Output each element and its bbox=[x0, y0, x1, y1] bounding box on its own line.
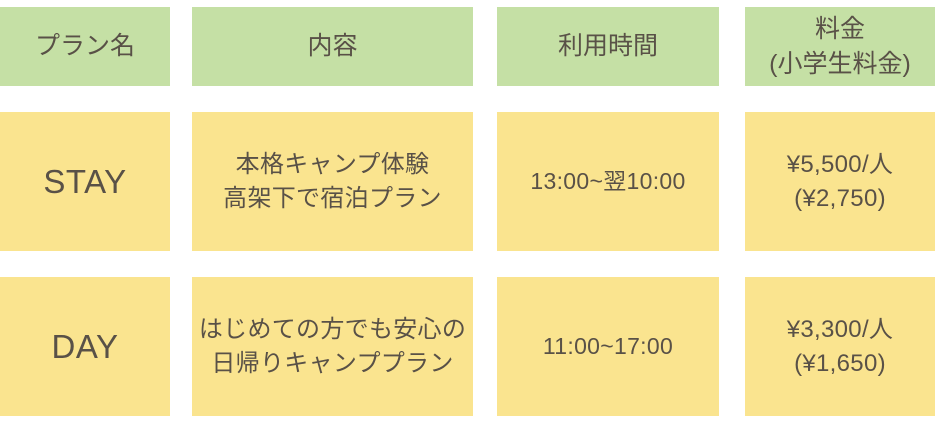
column-header-description: 内容 bbox=[192, 7, 473, 86]
table-row-day-description: はじめての方でも安心の 日帰りキャンププラン bbox=[192, 277, 473, 416]
table-row-stay-price: ¥5,500/人 (¥2,750) bbox=[745, 112, 935, 251]
column-header-usage-time: 利用時間 bbox=[497, 7, 719, 86]
table-row-day-time: 11:00~17:00 bbox=[497, 277, 719, 416]
table-row-stay-time: 13:00~翌10:00 bbox=[497, 112, 719, 251]
column-header-plan-name: プラン名 bbox=[0, 7, 170, 86]
plan-pricing-table: プラン名 内容 利用時間 料金 (小学生料金) STAY 本格キャンプ体験 高架… bbox=[0, 0, 935, 424]
table-row-day-plan-name: DAY bbox=[0, 277, 170, 416]
table-row-stay-description: 本格キャンプ体験 高架下で宿泊プラン bbox=[192, 112, 473, 251]
column-header-price: 料金 (小学生料金) bbox=[745, 7, 935, 86]
table-row-stay-plan-name: STAY bbox=[0, 112, 170, 251]
table-row-day-price: ¥3,300/人 (¥1,650) bbox=[745, 277, 935, 416]
